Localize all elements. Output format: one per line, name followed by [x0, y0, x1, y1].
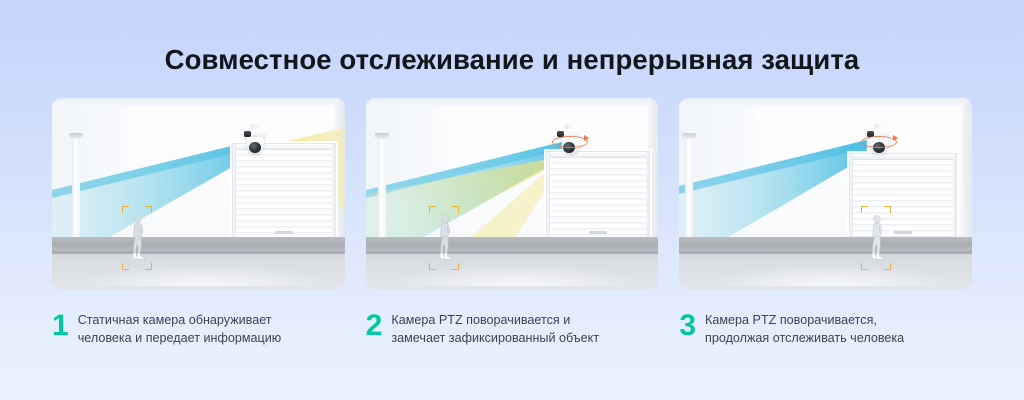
rotation-arrow-icon — [584, 135, 589, 141]
pavement-sheen — [703, 264, 961, 286]
step-captions: 1 Статичная камера обнаруживает человека… — [52, 310, 972, 348]
caption-step-3: 3 Камера PTZ поворачивается, продолжая о… — [679, 310, 972, 348]
lamp-head — [69, 133, 83, 139]
step-text-2: Камера PTZ поворачивается и замечает заф… — [391, 310, 599, 348]
step-number-2: 2 — [366, 311, 383, 341]
lamp-head — [682, 133, 696, 139]
illustration-panels — [52, 98, 972, 290]
pavement — [679, 254, 972, 290]
lamp-head — [375, 133, 389, 139]
dual-lens-ptz-camera — [556, 124, 584, 156]
panel-step-3 — [679, 98, 972, 290]
wall-top-edge — [52, 98, 345, 107]
rotation-arrow-icon — [893, 135, 898, 141]
step-text-3-line-2: продолжая отслеживать человека — [705, 329, 904, 347]
walking-person-figure — [869, 215, 884, 262]
step-text-3-line-1: Камера PTZ поворачивается, — [705, 311, 904, 329]
curb — [366, 237, 659, 254]
curb — [679, 237, 972, 254]
garage-side-right — [953, 154, 956, 237]
bullet-lens-icon — [244, 131, 251, 137]
garage-handle — [275, 231, 293, 234]
page-title: Совместное отслеживание и непрерывная за… — [0, 44, 1024, 76]
panel-step-2 — [366, 98, 659, 290]
step-number-3: 3 — [679, 311, 696, 341]
dome-lens-icon — [249, 142, 261, 153]
garage-side-right — [332, 144, 335, 237]
pavement — [366, 254, 659, 290]
step-text-3: Камера PTZ поворачивается, продолжая отс… — [705, 310, 904, 348]
caption-step-2: 2 Камера PTZ поворачивается и замечает з… — [366, 310, 659, 348]
walking-person-figure — [437, 215, 452, 262]
step-number-1: 1 — [52, 311, 69, 341]
curb — [52, 237, 345, 254]
panel-step-1 — [52, 98, 345, 290]
garage-handle — [894, 231, 912, 234]
walking-person-figure — [130, 215, 145, 262]
camera-ptz-dome — [246, 137, 264, 154]
dual-lens-ptz-camera — [865, 124, 893, 156]
step-text-1-line-1: Статичная камера обнаруживает — [78, 311, 282, 329]
dual-lens-ptz-camera — [242, 124, 270, 156]
garage-slats — [236, 151, 332, 237]
caption-step-1: 1 Статичная камера обнаруживает человека… — [52, 310, 345, 348]
pavement-sheen — [389, 264, 647, 286]
garage-side-right — [646, 152, 649, 237]
step-text-2-line-1: Камера PTZ поворачивается и — [391, 311, 599, 329]
pavement-sheen — [75, 264, 333, 286]
garage-slats — [853, 161, 953, 237]
pavement — [52, 254, 345, 290]
wall-top-edge — [679, 98, 972, 107]
rotation-ring-icon — [552, 136, 588, 148]
rotation-ring-icon — [861, 136, 897, 148]
garage-slats — [550, 159, 646, 237]
wall-top-edge — [366, 98, 659, 107]
roller-shutter-door — [849, 153, 957, 237]
step-text-2-line-2: замечает зафиксированный объект — [391, 329, 599, 347]
step-text-1: Статичная камера обнаруживает человека и… — [78, 310, 282, 348]
roller-shutter-door — [546, 151, 650, 237]
garage-handle — [589, 231, 607, 234]
roller-shutter-door — [232, 143, 336, 237]
step-text-1-line-2: человека и передает информацию — [78, 329, 282, 347]
